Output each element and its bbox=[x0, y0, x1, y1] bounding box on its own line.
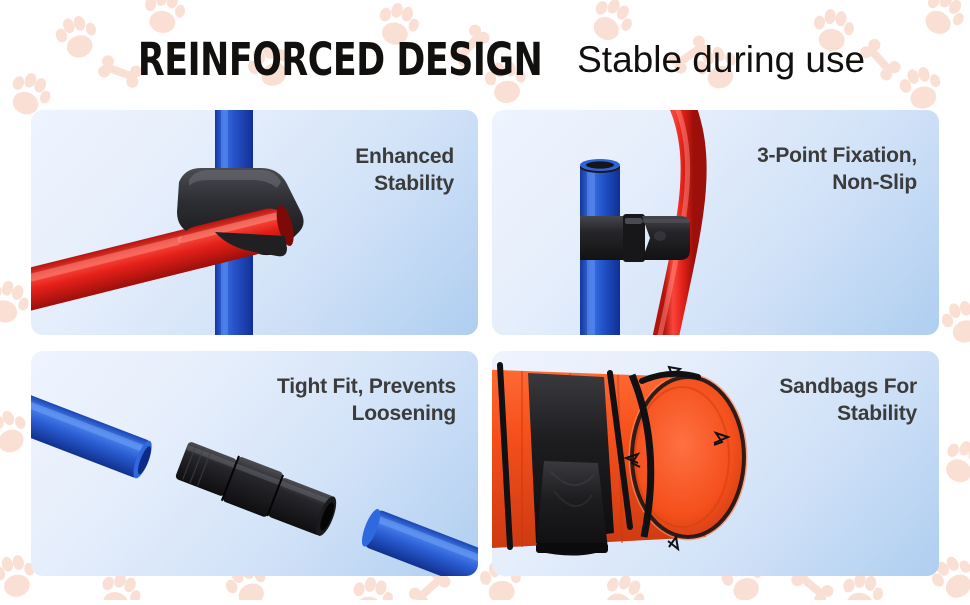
panel-label-enhanced-stability: Enhanced Stability bbox=[244, 143, 454, 198]
panel-sandbags: Sandbags For Stability bbox=[492, 351, 939, 576]
feature-panel-grid: Enhanced Stability bbox=[31, 110, 939, 576]
page-subtitle: Stable during use bbox=[577, 41, 865, 78]
panel-tight-fit: Tight Fit, Prevents Loosening bbox=[31, 351, 478, 576]
header-banner: REINFORCED DESIGN Stable during use bbox=[0, 0, 970, 105]
panel-three-point-fixation: 3-Point Fixation, Non-Slip bbox=[492, 110, 939, 335]
page-title: REINFORCED DESIGN bbox=[138, 37, 542, 82]
panel-label-sandbags-for-stability: Sandbags For Stability bbox=[687, 373, 917, 428]
panel-label-three-point-fixation: 3-Point Fixation, Non-Slip bbox=[667, 142, 917, 197]
panel-label-tight-fit: Tight Fit, Prevents Loosening bbox=[196, 373, 456, 428]
panel-reinforced-joint: Enhanced Stability bbox=[31, 110, 478, 335]
